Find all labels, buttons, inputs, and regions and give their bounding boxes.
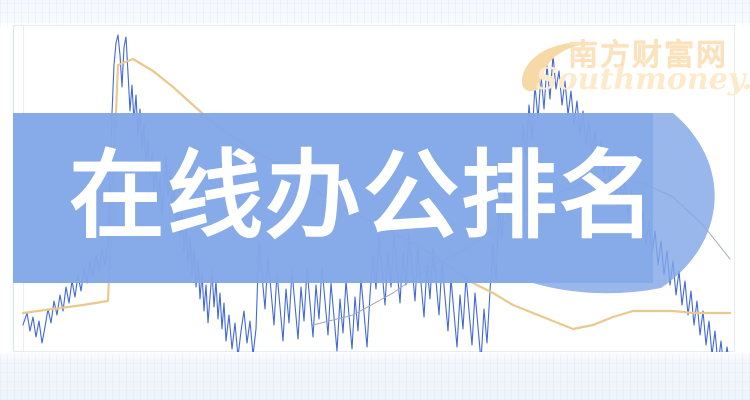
screenshot-root: 南方财富网 Southmoney.com 在线办公排名: [0, 0, 750, 400]
headline-band: [13, 113, 735, 283]
headline-band-shape: [13, 113, 735, 313]
